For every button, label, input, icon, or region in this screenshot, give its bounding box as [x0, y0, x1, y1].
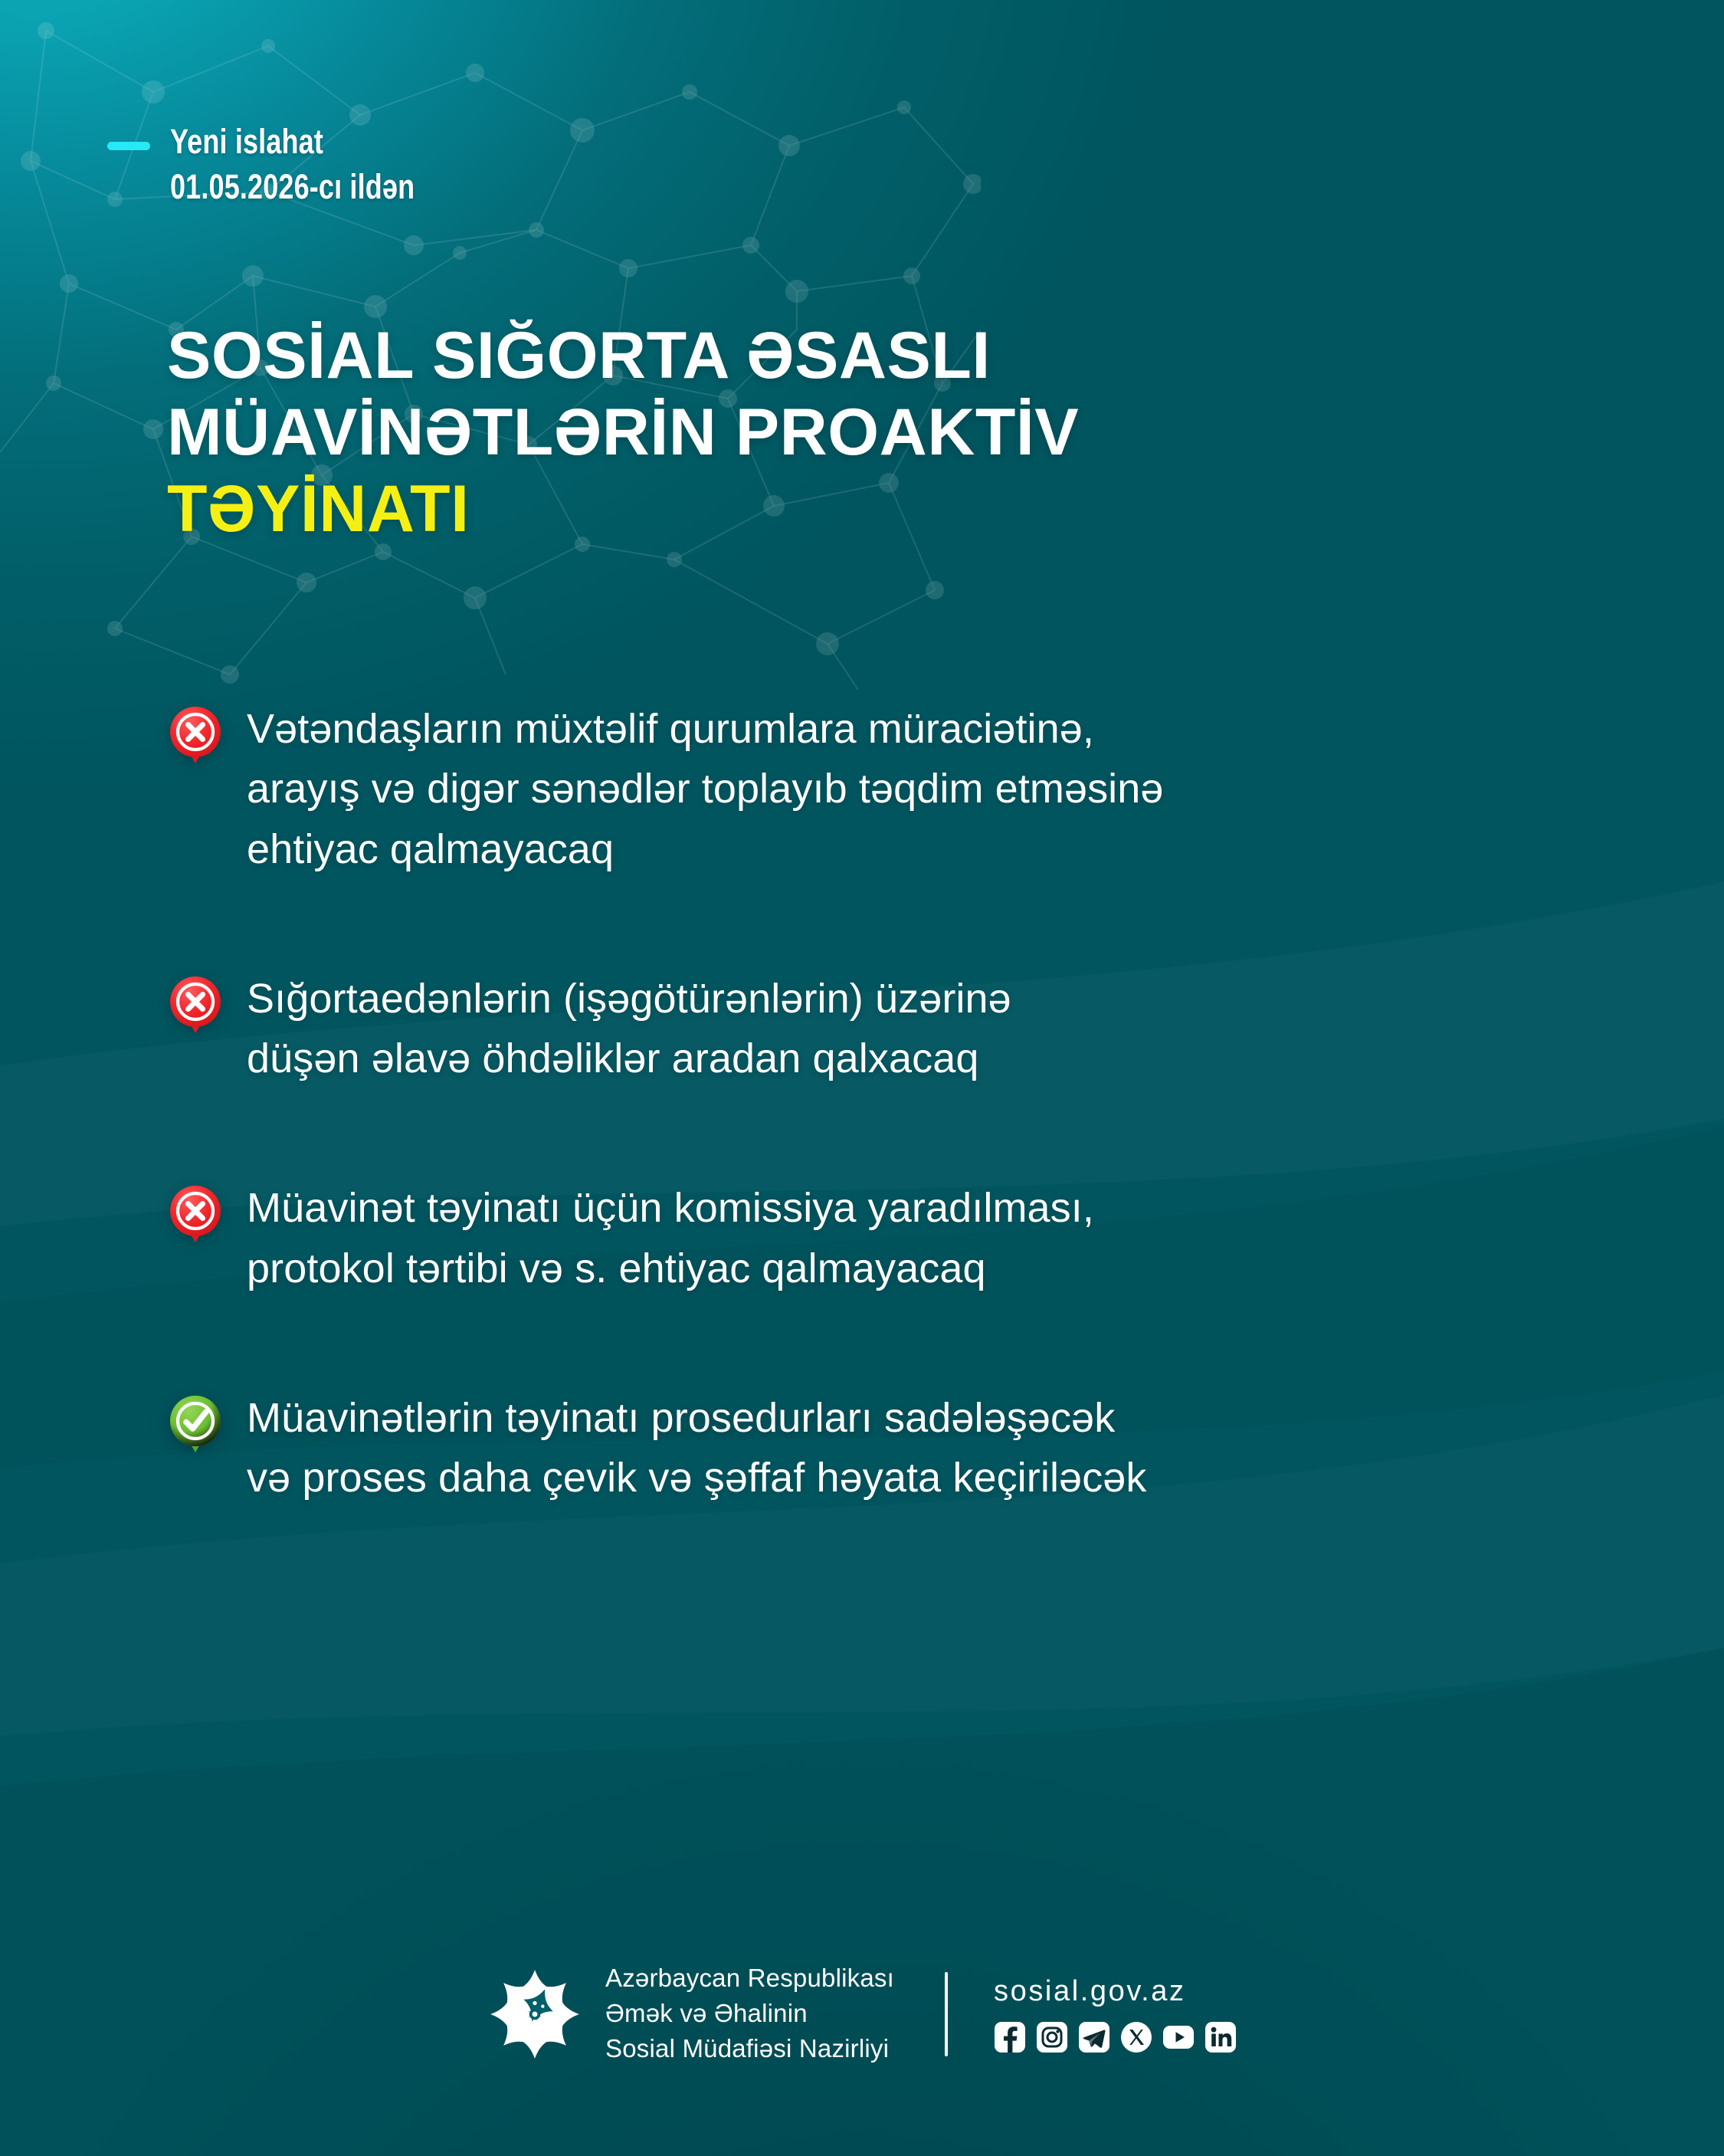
linkedin-icon[interactable] [1205, 2021, 1237, 2053]
list-item: Müavinətlərin təyinatı prosedurları sadə… [170, 1388, 1626, 1508]
list-item: Vətəndaşların müxtəlif qurumlara müraciə… [170, 699, 1626, 879]
list-item-text: Müavinət təyinatı üçün komissiya yaradıl… [247, 1178, 1094, 1298]
ministry-star-logo-icon [487, 1967, 582, 2062]
list-item-line: ehtiyac qalmayacaq [247, 819, 1164, 879]
list-item-line: Sığortaedənlərin (işəgötürənlərin) üzəri… [247, 969, 1011, 1029]
list-item-line: Müavinətlərin təyinatı prosedurları sadə… [247, 1388, 1147, 1448]
bullet-list: Vətəndaşların müxtəlif qurumlara müraciə… [170, 699, 1626, 1508]
list-item-line: və proses daha çevik və şəffaf həyata ke… [247, 1448, 1147, 1508]
social-links-row [994, 2021, 1237, 2053]
dash-icon [107, 142, 150, 150]
title-line-2: MÜAVİNƏTLƏRİN PROAKTİV [167, 395, 1470, 471]
youtube-icon[interactable] [1162, 2021, 1195, 2053]
poster-canvas: Yeni islahat 01.05.2026-cı ildən SOSİAL … [0, 0, 1724, 2156]
telegram-icon[interactable] [1078, 2021, 1110, 2053]
footer-divider [945, 1972, 948, 2056]
list-item-text: Sığortaedənlərin (işəgötürənlərin) üzəri… [247, 969, 1011, 1089]
red-x-circle-icon [170, 976, 221, 1036]
title-line-3-accent: TƏYİNATI [167, 471, 1470, 548]
list-item: Sığortaedənlərin (işəgötürənlərin) üzəri… [170, 969, 1626, 1089]
green-check-circle-icon [170, 1396, 221, 1455]
list-item: Müavinət təyinatı üçün komissiya yaradıl… [170, 1178, 1626, 1298]
page-title: SOSİAL SIĞORTA ƏSASLI MÜAVİNƏTLƏRİN PROA… [167, 318, 1470, 547]
footer: Azərbaycan Respublikası Əmək və Əhalinin… [0, 1962, 1724, 2066]
list-item-text: Vətəndaşların müxtəlif qurumlara müraciə… [247, 699, 1164, 879]
list-item-line: arayış və digər sənədlər toplayıb təqdim… [247, 759, 1164, 819]
list-item-line: düşən əlavə öhdəliklər aradan qalxacaq [247, 1029, 1011, 1088]
ministry-name-line-1: Azərbaycan Respublikası [605, 1962, 894, 1995]
footer-contact-block: sosial.gov.az [994, 1975, 1237, 2053]
ministry-name: Azərbaycan Respublikası Əmək və Əhalinin… [605, 1962, 894, 2066]
eyebrow-line-1: Yeni islahat [170, 121, 415, 162]
website-url[interactable]: sosial.gov.az [994, 1975, 1237, 2008]
facebook-icon[interactable] [994, 2021, 1026, 2053]
eyebrow-block: Yeni islahat 01.05.2026-cı ildən [107, 121, 476, 207]
list-item-line: protokol tərtibi və s. ehtiyac qalmayaca… [247, 1239, 1094, 1298]
ministry-name-line-2: Əmək və Əhalinin [605, 1997, 894, 2030]
footer-inner: Azərbaycan Respublikası Əmək və Əhalinin… [487, 1962, 1237, 2066]
eyebrow-line-2: 01.05.2026-cı ildən [170, 166, 415, 207]
list-item-text: Müavinətlərin təyinatı prosedurları sadə… [247, 1388, 1147, 1508]
list-item-line: Müavinət təyinatı üçün komissiya yaradıl… [247, 1178, 1094, 1238]
eyebrow-lines: Yeni islahat 01.05.2026-cı ildən [170, 121, 476, 207]
ministry-name-line-3: Sosial Müdafiəsi Nazirliyi [605, 2033, 894, 2066]
instagram-icon[interactable] [1036, 2021, 1068, 2053]
list-item-line: Vətəndaşların müxtəlif qurumlara müraciə… [247, 699, 1164, 759]
red-x-circle-icon [170, 707, 221, 766]
red-x-circle-icon [170, 1186, 221, 1245]
x-twitter-icon[interactable] [1120, 2021, 1152, 2053]
title-line-1: SOSİAL SIĞORTA ƏSASLI [167, 318, 1470, 395]
